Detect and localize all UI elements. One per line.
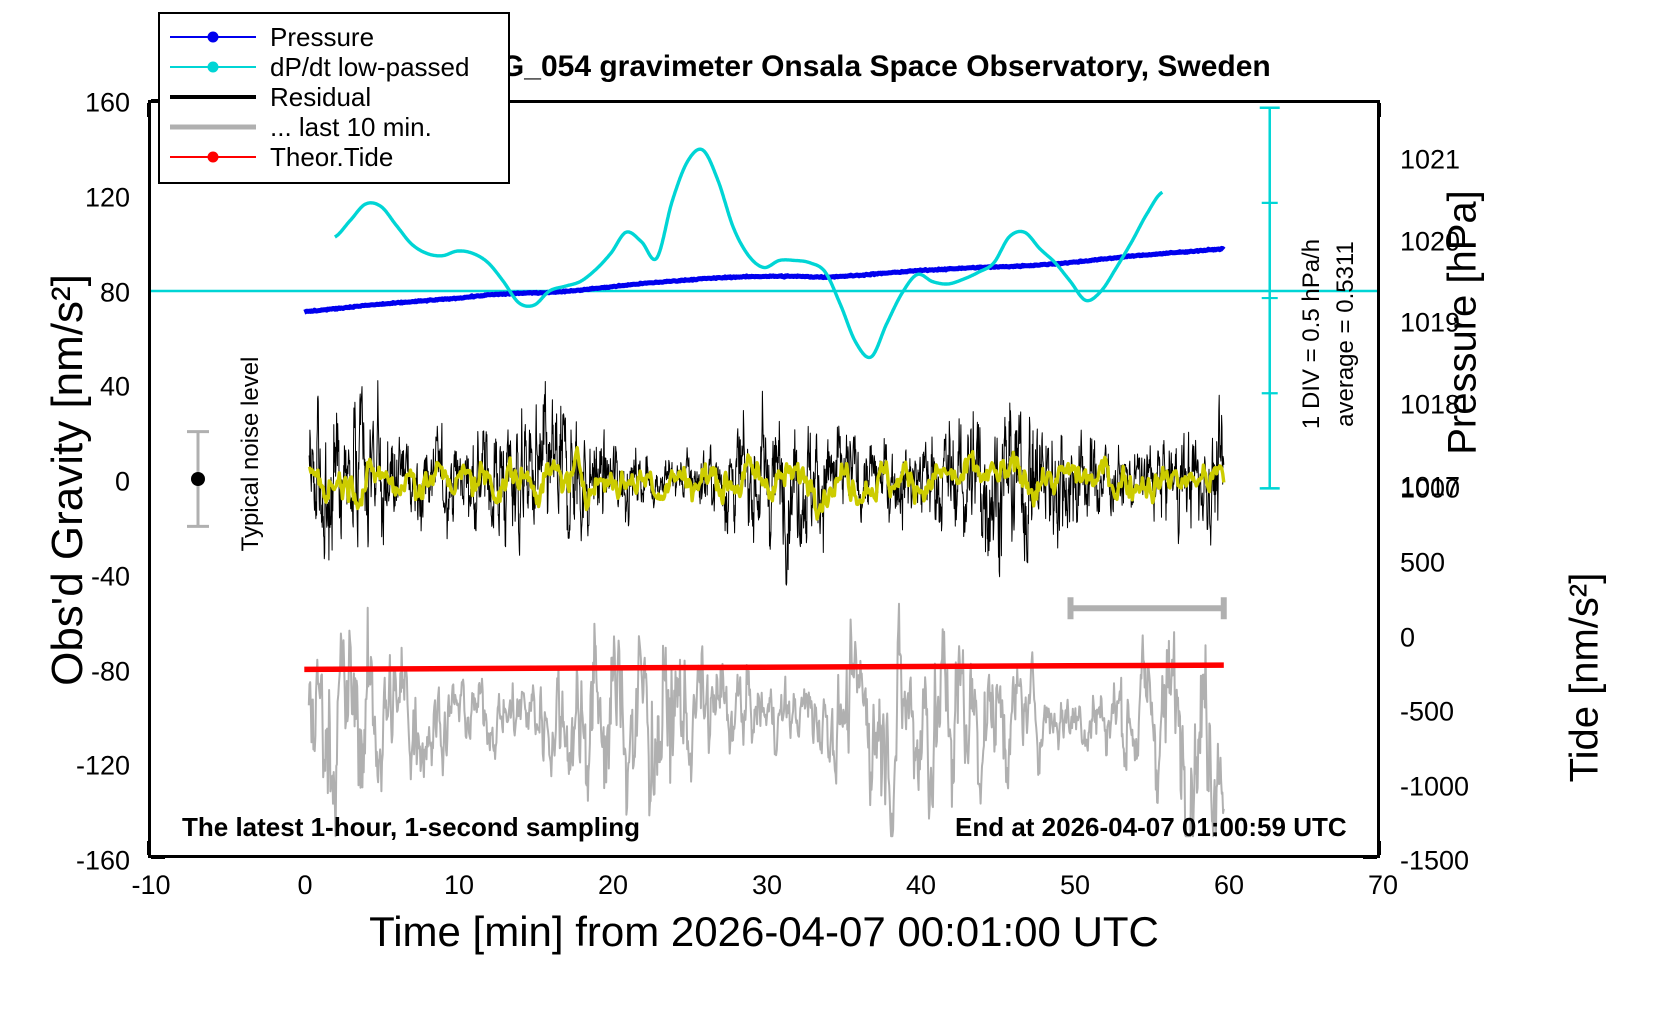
noise-level-label: Typical noise level xyxy=(237,339,265,569)
x-axis-title: Time [min] from 2026-04-07 00:01:00 UTC xyxy=(148,908,1380,956)
legend-line-icon xyxy=(170,95,256,99)
x-tick-3: 20 xyxy=(598,872,628,899)
legend-swatch-1 xyxy=(170,56,256,78)
legend-item-3: ... last 10 min. xyxy=(170,112,498,142)
y-left-tick-0: 160 xyxy=(85,90,130,117)
legend-label-1: dP/dt low-passed xyxy=(256,52,469,83)
dpdt-scale-annotation: 1 DIV = 0.5 hPa/h average = 0.5311 xyxy=(1282,170,1342,500)
x-tick-1: 0 xyxy=(297,872,312,899)
x-tick-0: -10 xyxy=(131,872,170,899)
x-tick-6: 50 xyxy=(1060,872,1090,899)
tide-tick-4: -1000 xyxy=(1400,773,1469,800)
y-axis-left-title: Obs'd Gravity [nm/s²] xyxy=(43,180,93,780)
tide-tick-5: -1500 xyxy=(1400,848,1469,875)
legend-swatch-2 xyxy=(170,86,256,108)
legend-label-4: Theor.Tide xyxy=(256,142,393,173)
legend-item-4: Theor.Tide xyxy=(170,142,498,172)
legend: PressuredP/dt low-passedResidual... last… xyxy=(158,12,510,184)
legend-line-icon xyxy=(170,125,256,130)
y-left-tick-8: -160 xyxy=(76,848,130,875)
legend-dot-icon xyxy=(208,152,219,163)
dpdt-average-label: average = 0.5311 xyxy=(1332,184,1360,484)
x-tick-4: 30 xyxy=(752,872,782,899)
x-tick-2: 10 xyxy=(444,872,474,899)
series-path xyxy=(304,248,1224,312)
x-tick-5: 40 xyxy=(906,872,936,899)
y-left-tick-3: 40 xyxy=(100,374,130,401)
legend-swatch-4 xyxy=(170,146,256,168)
legend-dot-icon xyxy=(208,62,219,73)
legend-label-2: Residual xyxy=(256,82,371,113)
x-axis-ticks: -10010203040506070 xyxy=(148,872,1380,912)
series-path xyxy=(309,604,1224,836)
dpdt-scale-div-label: 1 DIV = 0.5 hPa/h xyxy=(1298,184,1326,484)
plot-area xyxy=(148,100,1380,858)
y-left-tick-6: -80 xyxy=(91,658,130,685)
legend-label-0: Pressure xyxy=(256,22,374,53)
plot-curves xyxy=(151,103,1377,855)
legend-swatch-0 xyxy=(170,26,256,48)
legend-dot-icon xyxy=(208,32,219,43)
series-path xyxy=(304,665,1224,669)
y-left-tick-2: 80 xyxy=(100,279,130,306)
legend-item-2: Residual xyxy=(170,82,498,112)
y-axis-pressure-title: Pressure [hPa] xyxy=(1441,113,1486,533)
x-tick-7: 60 xyxy=(1214,872,1244,899)
footer-sampling-note: The latest 1-hour, 1-second sampling xyxy=(182,812,640,843)
legend-item-1: dP/dt low-passed xyxy=(170,52,498,82)
footer-end-time: End at 2026-04-07 01:00:59 UTC xyxy=(955,812,1347,843)
legend-label-3: ... last 10 min. xyxy=(256,112,432,143)
tide-tick-3: -500 xyxy=(1400,699,1454,726)
y-left-tick-4: 0 xyxy=(115,469,130,496)
noise-center-dot xyxy=(191,472,205,486)
gravimeter-chart-page: SCG_054 gravimeter Onsala Space Observat… xyxy=(0,0,1660,1020)
y-axis-tide-title: Tide [nm/s²] xyxy=(1563,478,1608,878)
legend-swatch-3 xyxy=(170,116,256,138)
legend-item-0: Pressure xyxy=(170,22,498,52)
x-tick-8: 70 xyxy=(1368,872,1398,899)
tide-tick-1: 500 xyxy=(1400,550,1445,577)
tide-tick-2: 0 xyxy=(1400,624,1415,651)
y-left-tick-5: -40 xyxy=(91,563,130,590)
